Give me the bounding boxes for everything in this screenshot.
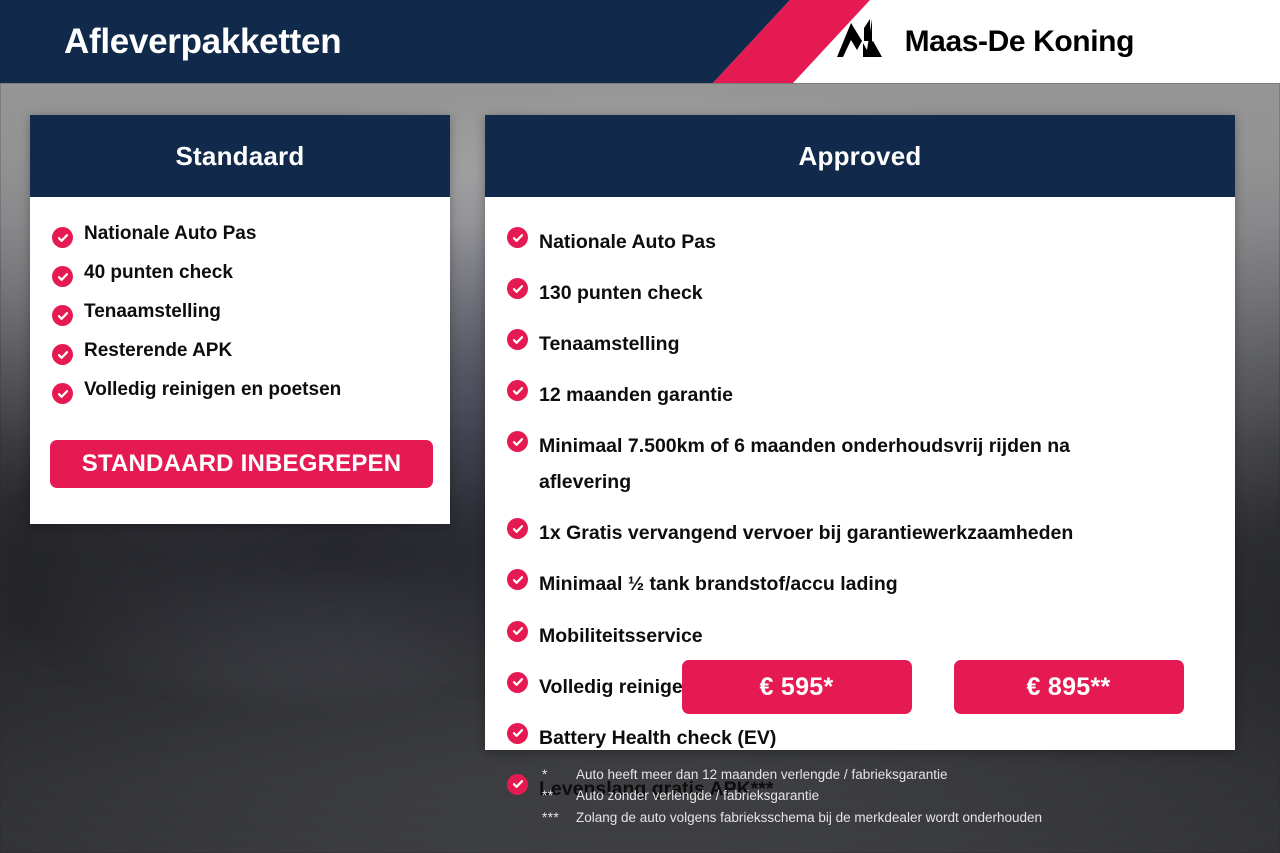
feature-item: Nationale Auto Pas — [507, 224, 1235, 260]
feature-label: Mobiliteitsservice — [539, 618, 703, 654]
page-title: Afleverpakketten — [64, 0, 341, 83]
feature-item: Mobiliteitsservice — [507, 618, 1235, 654]
poster-root: Afleverpakketten Maas-De Koning Standaar… — [0, 0, 1280, 853]
check-circle-icon — [507, 774, 528, 795]
check-circle-icon — [507, 518, 528, 539]
feature-item: Volledig reinigen en poetsen — [52, 380, 450, 404]
feature-item: 40 punten check — [52, 263, 450, 287]
feature-item: 1x Gratis vervangend vervoer bij garanti… — [507, 515, 1235, 551]
check-circle-icon — [507, 621, 528, 642]
feature-label: Resterende APK — [84, 341, 232, 360]
price-button-row: € 595* € 895** — [485, 660, 1235, 714]
feature-label: 12 maanden garantie — [539, 377, 733, 413]
feature-label: 40 punten check — [84, 263, 233, 282]
feature-label: Minimaal ½ tank brandstof/accu lading — [539, 566, 898, 602]
feature-item: Nationale Auto Pas — [52, 224, 450, 248]
feature-label: 130 punten check — [539, 275, 703, 311]
check-circle-icon — [507, 569, 528, 590]
package-card-standaard: Standaard Nationale Auto Pas 40 punten c… — [30, 115, 450, 524]
check-circle-icon — [507, 227, 528, 248]
feature-list-approved: Nationale Auto Pas 130 punten check Tena… — [485, 197, 1235, 807]
package-title-approved: Approved — [485, 115, 1235, 197]
feature-item: Battery Health check (EV) — [507, 720, 1235, 756]
feature-label: Nationale Auto Pas — [84, 224, 256, 243]
feature-label: 1x Gratis vervangend vervoer bij garanti… — [539, 515, 1073, 551]
feature-item: 130 punten check — [507, 275, 1235, 311]
feature-label: Volledig reinigen en poetsen — [84, 380, 341, 399]
feature-item: Resterende APK — [52, 341, 450, 365]
footnote-text: Auto heeft meer dan 12 maanden verlengde… — [576, 764, 948, 785]
feature-item: Tenaamstelling — [52, 302, 450, 326]
check-circle-icon — [507, 431, 528, 452]
footnotes: * Auto heeft meer dan 12 maanden verleng… — [542, 764, 1242, 828]
footnote-item: * Auto heeft meer dan 12 maanden verleng… — [542, 764, 1242, 785]
feature-label: Nationale Auto Pas — [539, 224, 716, 260]
feature-label: Tenaamstelling — [84, 302, 221, 321]
maas-de-koning-m-logo-icon — [837, 19, 893, 64]
check-circle-icon — [507, 380, 528, 401]
check-circle-icon — [52, 227, 73, 248]
check-circle-icon — [52, 383, 73, 404]
brand-lockup: Maas-De Koning — [837, 0, 1134, 83]
feature-list-standaard: Nationale Auto Pas 40 punten check Tenaa… — [30, 197, 450, 404]
price-button-895[interactable]: € 895** — [954, 660, 1184, 714]
package-card-approved: Approved Nationale Auto Pas 130 punten c… — [485, 115, 1235, 750]
footnote-text: Auto zonder verlengde / fabrieksgarantie — [576, 785, 819, 806]
page-header: Afleverpakketten Maas-De Koning — [0, 0, 1280, 83]
footnote-marker: ** — [542, 785, 576, 806]
footnote-text: Zolang de auto volgens fabrieksschema bi… — [576, 807, 1042, 828]
feature-label: Minimaal 7.500km of 6 maanden onderhouds… — [539, 428, 1129, 500]
feature-item: 12 maanden garantie — [507, 377, 1235, 413]
standaard-inbegrepen-button[interactable]: STANDAARD INBEGREPEN — [50, 440, 433, 488]
footnote-item: *** Zolang de auto volgens fabrieksschem… — [542, 807, 1242, 828]
feature-item: Minimaal ½ tank brandstof/accu lading — [507, 566, 1235, 602]
feature-item: Tenaamstelling — [507, 326, 1235, 362]
check-circle-icon — [52, 344, 73, 365]
brand-name: Maas-De Koning — [905, 25, 1134, 59]
footnote-marker: * — [542, 764, 576, 785]
package-title-standaard: Standaard — [30, 115, 450, 197]
check-circle-icon — [52, 266, 73, 287]
check-circle-icon — [507, 329, 528, 350]
price-button-595[interactable]: € 595* — [682, 660, 912, 714]
feature-item: Minimaal 7.500km of 6 maanden onderhouds… — [507, 428, 1235, 500]
check-circle-icon — [52, 305, 73, 326]
feature-label: Tenaamstelling — [539, 326, 680, 362]
footnote-item: ** Auto zonder verlengde / fabrieksgaran… — [542, 785, 1242, 806]
feature-label: Battery Health check (EV) — [539, 720, 776, 756]
check-circle-icon — [507, 278, 528, 299]
check-circle-icon — [507, 723, 528, 744]
footnote-marker: *** — [542, 807, 576, 828]
